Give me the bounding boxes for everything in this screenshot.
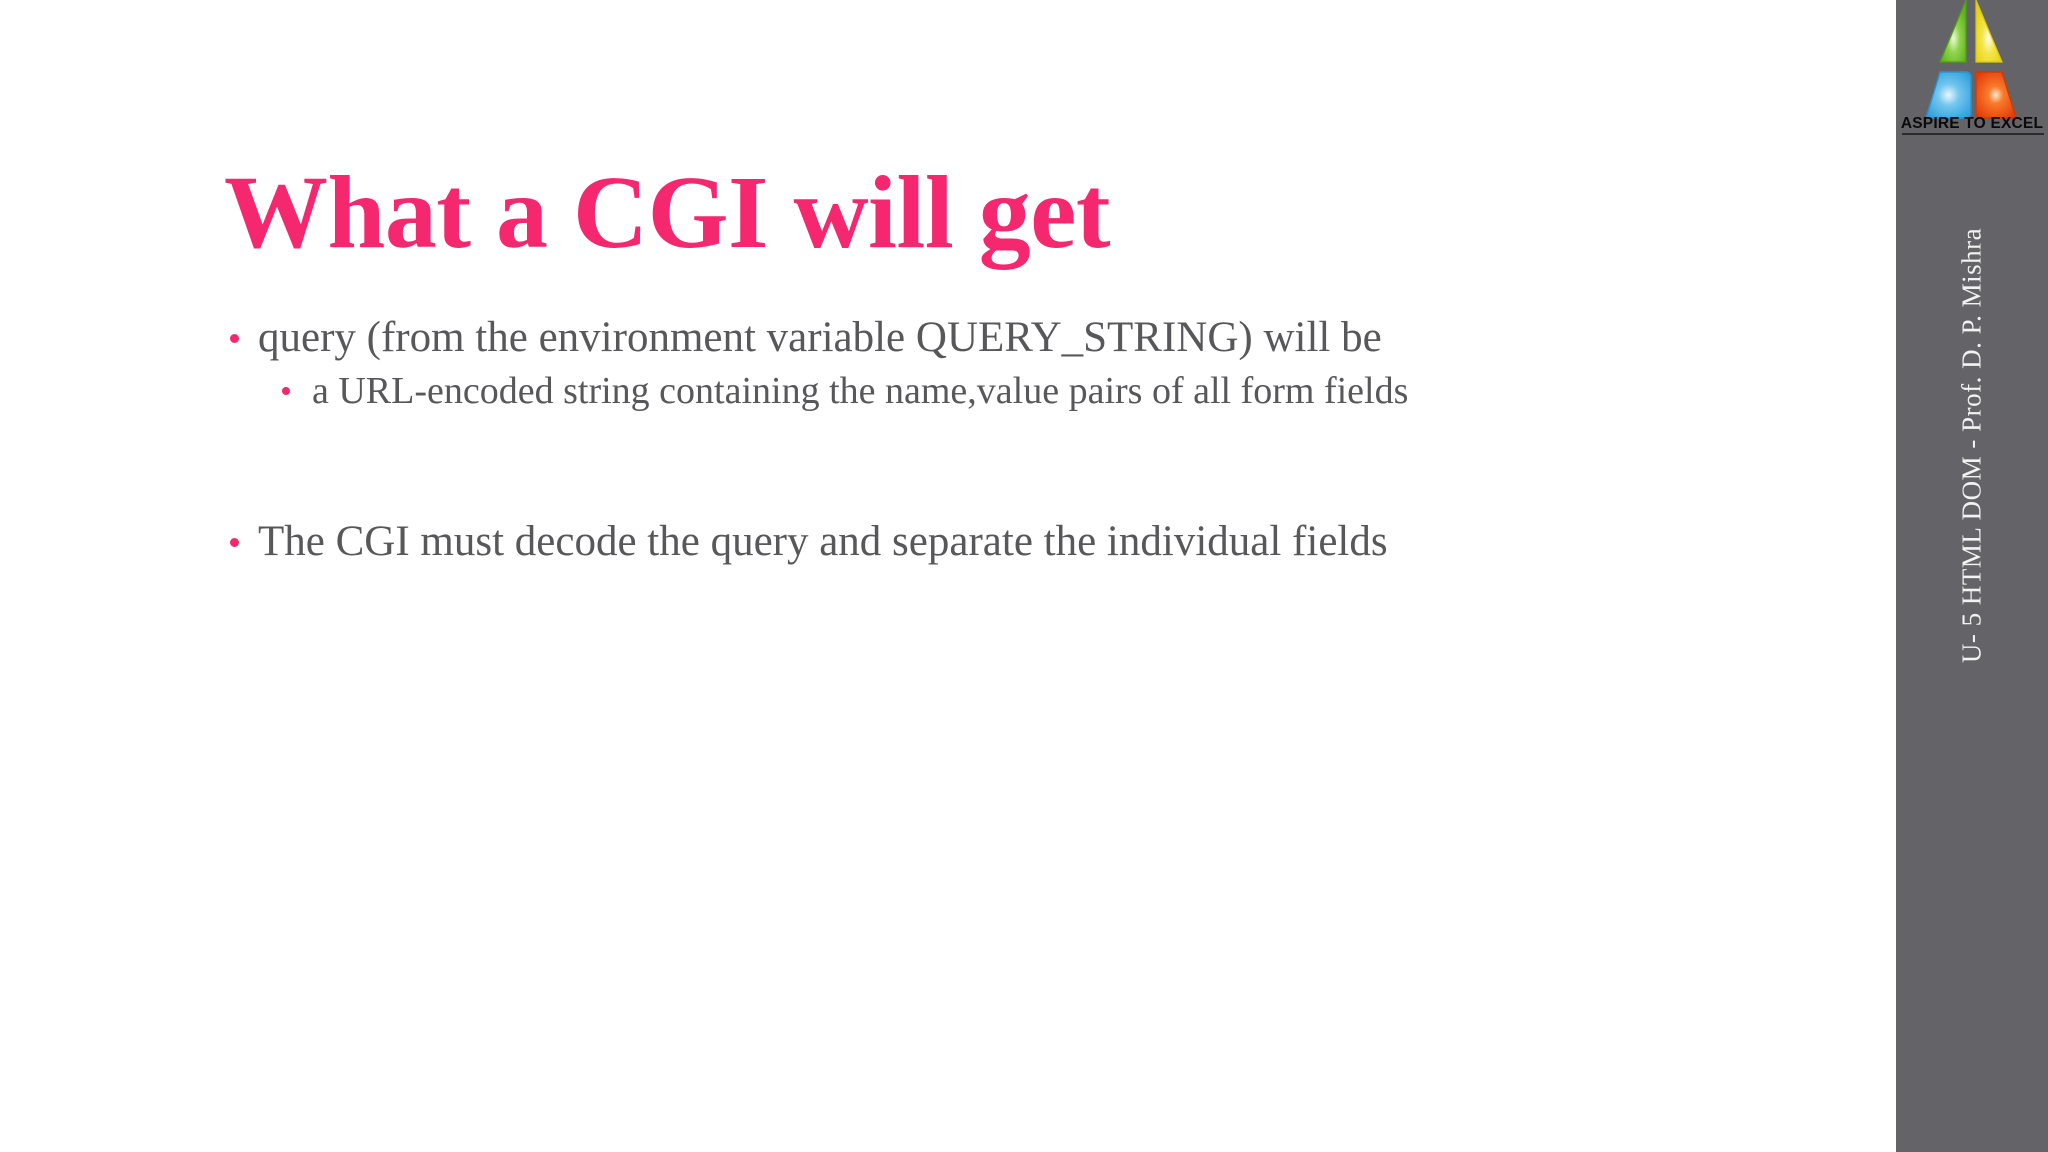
bullet-item-3: The CGI must decode the query and separa… <box>224 514 1824 570</box>
slide-canvas: What a CGI will get query (from the envi… <box>0 0 2048 1152</box>
blue-trapezoid-icon <box>1926 72 1971 118</box>
bullet-spacer <box>224 416 1824 514</box>
sidebar-band: U- 5 HTML DOM - Prof. D. P. Mishra <box>1896 0 2048 1152</box>
bullet-item-1-text: query (from the environment variable QUE… <box>258 314 1382 361</box>
green-triangle-icon <box>1940 0 1966 62</box>
bullet-dot-icon <box>282 387 290 395</box>
bullet-dot-icon <box>230 334 239 343</box>
yellow-triangle-icon <box>1976 0 2002 62</box>
bullet-item-2: a URL-encoded string containing the name… <box>224 366 1824 416</box>
logo-caption: ASPIRE TO EXCEL <box>1896 115 2048 132</box>
bullet-item-1: query (from the environment variable QUE… <box>224 310 1824 366</box>
logo: ASPIRE TO EXCEL <box>1896 0 2048 148</box>
orange-trapezoid-icon <box>1975 72 2016 118</box>
page-title: What a CGI will get <box>224 157 1110 269</box>
bullet-item-2-text: a URL-encoded string containing the name… <box>312 370 1408 412</box>
sidebar-vertical-label: U- 5 HTML DOM - Prof. D. P. Mishra <box>1957 228 1988 663</box>
logo-underline <box>1902 133 2044 135</box>
logo-marks-icon <box>1896 0 2048 122</box>
slide-body: query (from the environment variable QUE… <box>224 310 1824 570</box>
bullet-dot-icon <box>230 538 239 547</box>
bullet-item-3-text: The CGI must decode the query and separa… <box>258 518 1388 565</box>
